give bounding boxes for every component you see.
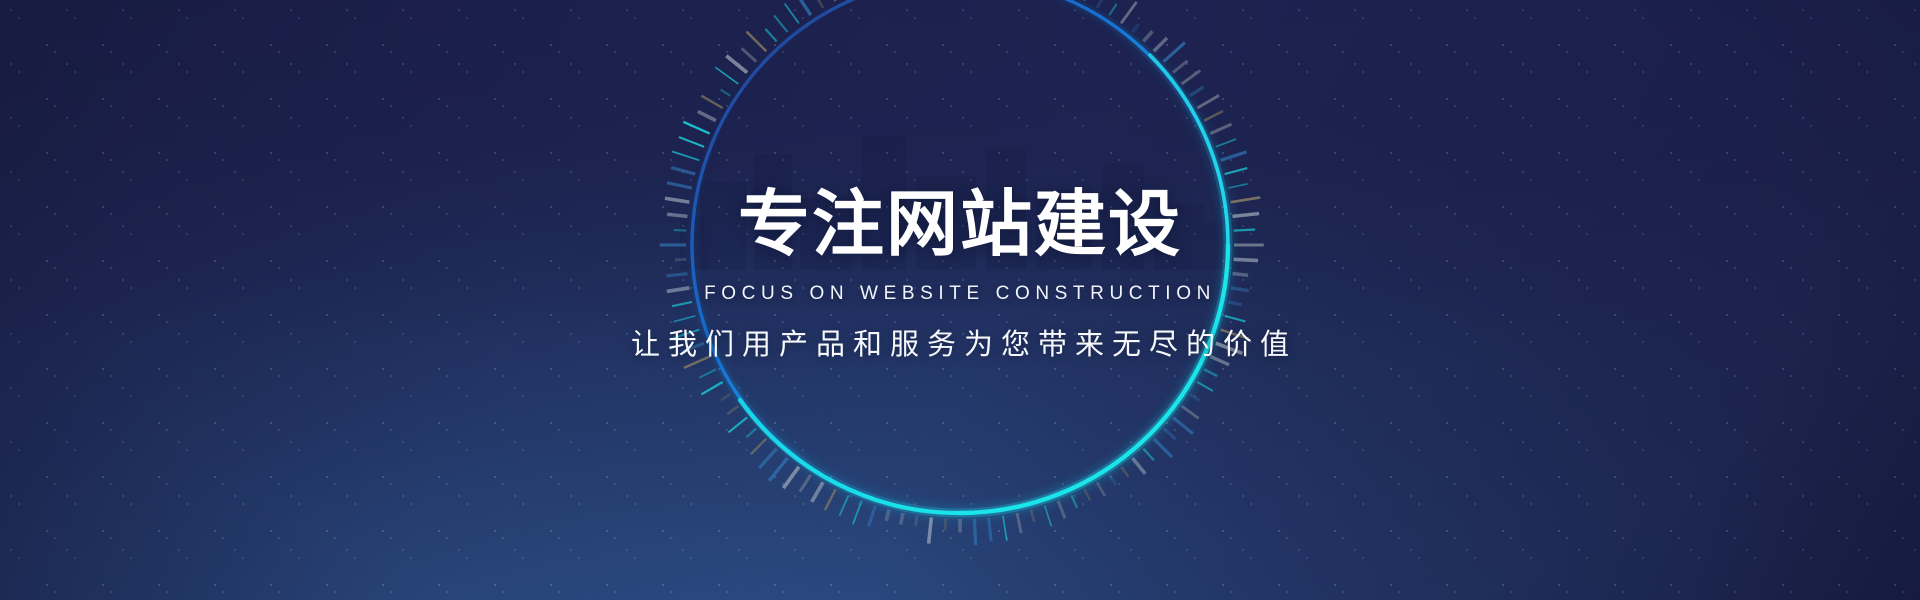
page-subtitle: FOCUS ON WEBSITE CONSTRUCTION — [0, 284, 1920, 303]
page-tagline: 让我们用产品和服务为您带来无尽的价值 — [0, 330, 1920, 359]
hero-text-block: 专注网站建设 FOCUS ON WEBSITE CONSTRUCTION 让我们… — [0, 188, 1920, 359]
hero-banner: 专注网站建设 FOCUS ON WEBSITE CONSTRUCTION 让我们… — [0, 0, 1920, 600]
page-title: 专注网站建设 — [0, 188, 1920, 260]
